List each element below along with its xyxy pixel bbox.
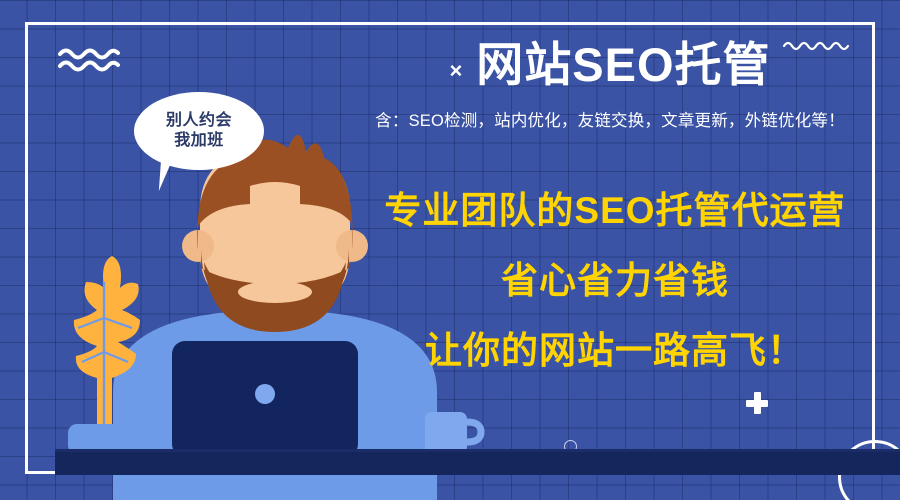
- close-icon: ×: [449, 60, 462, 82]
- page-title: 网站SEO托管: [476, 40, 770, 91]
- seo-promo-poster: 别人约会 我加班 × 网站SEO托管 含：SEO检测，站内优化，友链交换，文章更…: [0, 0, 900, 500]
- slogan-line-3: 让你的网站一路高飞！: [360, 332, 870, 369]
- slogan-line-1: 专业团队的SEO托管代运营: [360, 192, 870, 229]
- headline-block: × 网站SEO托管 含：SEO检测，站内优化，友链交换，文章更新，外链优化等！: [330, 40, 890, 131]
- desk-surface: [55, 452, 900, 475]
- speech-bubble-line-1: 别人约会: [166, 111, 232, 131]
- speech-bubble: 别人约会 我加班: [134, 92, 264, 170]
- slogan-line-2: 省心省力省钱: [360, 262, 870, 299]
- subtitle: 含：SEO检测，站内优化，友链交换，文章更新，外链优化等！: [330, 107, 890, 131]
- slogan-block: 专业团队的SEO托管代运营 省心省力省钱 让你的网站一路高飞！: [360, 192, 870, 369]
- title-row: × 网站SEO托管: [330, 40, 890, 91]
- speech-bubble-line-2: 我加班: [174, 131, 224, 151]
